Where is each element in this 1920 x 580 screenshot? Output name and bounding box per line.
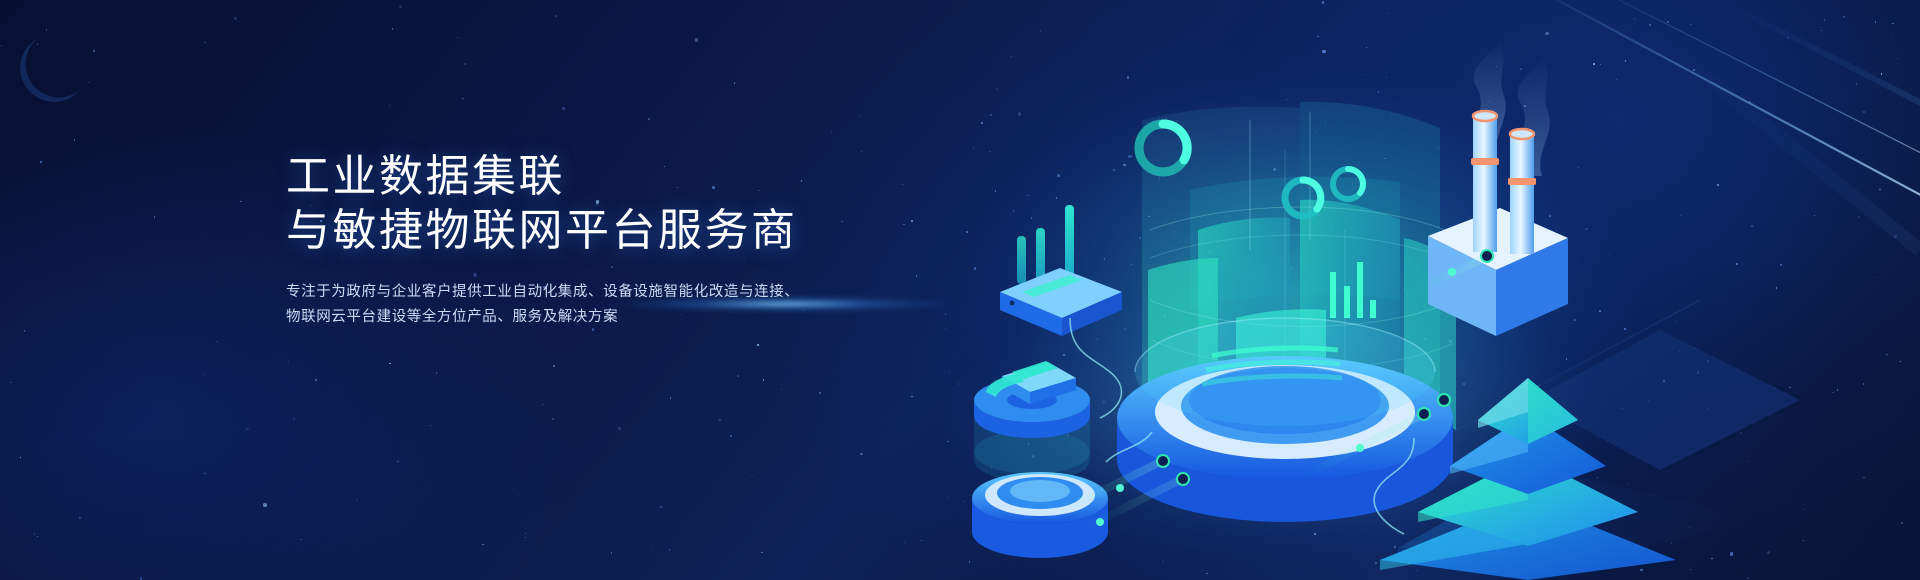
tower-blade-1: [1198, 218, 1290, 433]
data-link-beams: [1060, 250, 1493, 530]
donut-chart-panel-pair: [1285, 169, 1363, 216]
tower-shell-left: [1142, 107, 1300, 393]
bar-chart-panel: [1330, 262, 1376, 318]
tower-blade-2: [1300, 200, 1400, 418]
central-platform-disc: [1117, 318, 1453, 522]
cable-paths: [1070, 318, 1414, 534]
tower-blade-4: [1404, 238, 1456, 430]
layered-pyramid: [1380, 378, 1676, 580]
ground-plane: [1020, 430, 1760, 580]
platform-glow: [940, 280, 1620, 560]
smoke-plume-right: [1517, 56, 1550, 176]
wifi-router: [1000, 205, 1122, 336]
pie-chart-cylinder: [974, 361, 1090, 482]
headline-line-1: 工业数据集联: [286, 150, 846, 204]
tower-glow: [990, 70, 1590, 530]
donut-chart-panel: [1139, 124, 1187, 172]
tower-base-stripes: [1208, 370, 1336, 406]
hero-text-block: 工业数据集联 与敏捷物联网平台服务商 专注于为政府与企业客户提供工业自动化集成、…: [286, 150, 846, 330]
ground-shadow: [1530, 330, 1800, 470]
tower-blade-3: [1148, 258, 1218, 464]
subtitle-line-1: 专注于为政府与企业客户提供工业自动化集成、设备设施智能化改造与连接、: [286, 280, 846, 305]
crescent-decor: [20, 38, 80, 102]
headline-line-2: 与敏捷物联网平台服务商: [286, 204, 846, 258]
ring-disc: [972, 472, 1108, 558]
hero-subtitle: 专注于为政府与企业客户提供工业自动化集成、设备设施智能化改造与连接、 物联网云平…: [286, 280, 846, 330]
tower-blade-5: [1236, 309, 1326, 470]
factory-smokestacks: [1428, 40, 1568, 336]
hero-banner: 工业数据集联 与敏捷物联网平台服务商 专注于为政府与企业客户提供工业自动化集成、…: [0, 0, 1920, 580]
subtitle-line-2: 物联网云平台建设等全方位产品、服务及解决方案: [286, 305, 846, 330]
smoke-plume-left: [1473, 40, 1506, 160]
tower-shell-right: [1300, 102, 1440, 398]
holographic-data-tower: [1139, 102, 1456, 470]
